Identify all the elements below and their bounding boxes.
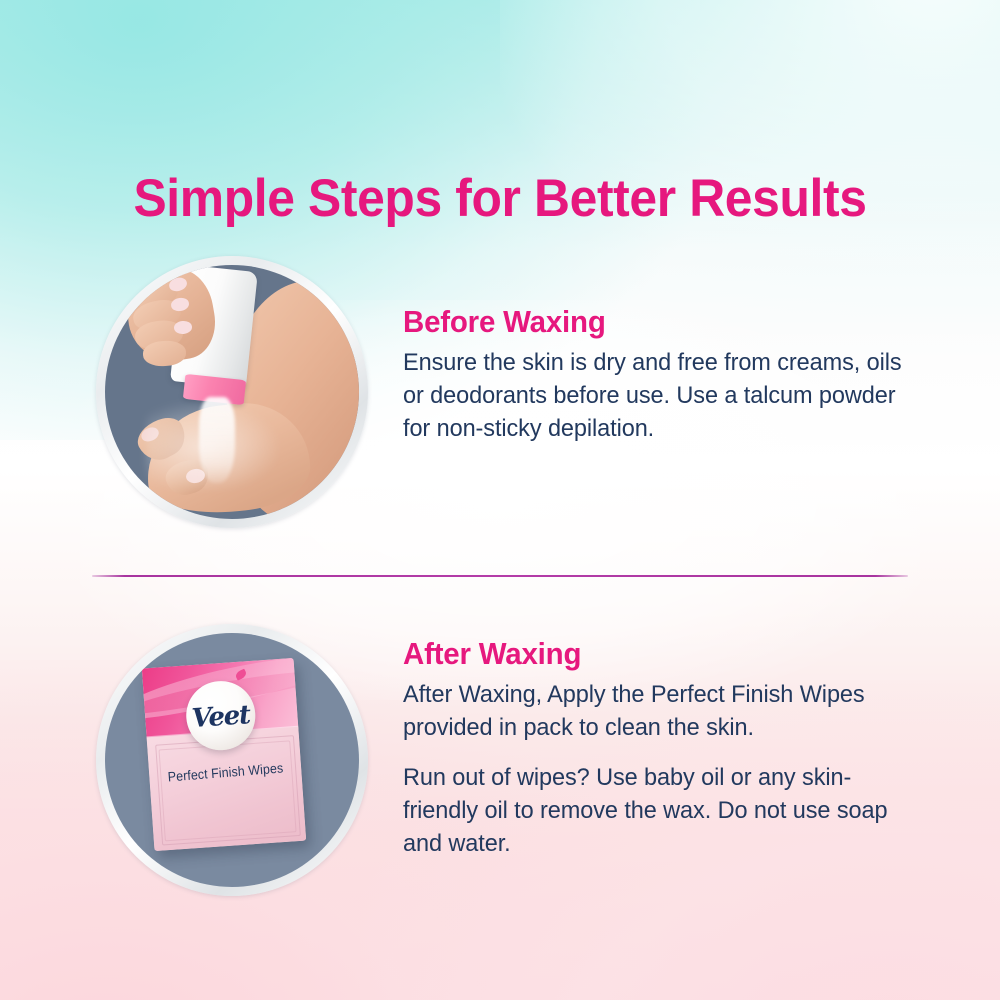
- before-waxing-image-medallion: [96, 256, 368, 528]
- sachet-seam-inner: [159, 741, 297, 842]
- wipes-sachet-scene: Veet Perfect Finish Wipes: [105, 633, 359, 887]
- after-waxing-heading: After Waxing: [403, 636, 897, 672]
- step-after-waxing: Veet Perfect Finish Wipes After Waxing A…: [96, 624, 923, 896]
- veet-wipes-sachet: Veet Perfect Finish Wipes: [142, 658, 307, 851]
- veet-wordmark: Veet: [191, 702, 251, 732]
- after-waxing-paragraph-2: Run out of wipes? Use baby oil or any sk…: [403, 761, 902, 860]
- after-waxing-text-block: After Waxing After Waxing, Apply the Per…: [403, 624, 923, 860]
- before-waxing-text-block: Before Waxing Ensure the skin is dry and…: [403, 256, 923, 445]
- section-divider: [92, 575, 908, 577]
- step-before-waxing: Before Waxing Ensure the skin is dry and…: [96, 256, 923, 528]
- before-waxing-paragraph-1: Ensure the skin is dry and free from cre…: [403, 346, 902, 445]
- after-waxing-image-medallion: Veet Perfect Finish Wipes: [96, 624, 368, 896]
- powder-dust-cloud: [146, 402, 278, 488]
- before-waxing-heading: Before Waxing: [403, 304, 897, 340]
- before-waxing-photo: [105, 265, 359, 519]
- poster-canvas: Simple Steps for Better Results: [0, 0, 1000, 1000]
- after-waxing-paragraph-1: After Waxing, Apply the Perfect Finish W…: [403, 678, 902, 744]
- talcum-powder-scene: [105, 265, 359, 519]
- after-waxing-photo: Veet Perfect Finish Wipes: [105, 633, 359, 887]
- grip-fingernail-3: [173, 320, 192, 334]
- page-title: Simple Steps for Better Results: [30, 170, 970, 228]
